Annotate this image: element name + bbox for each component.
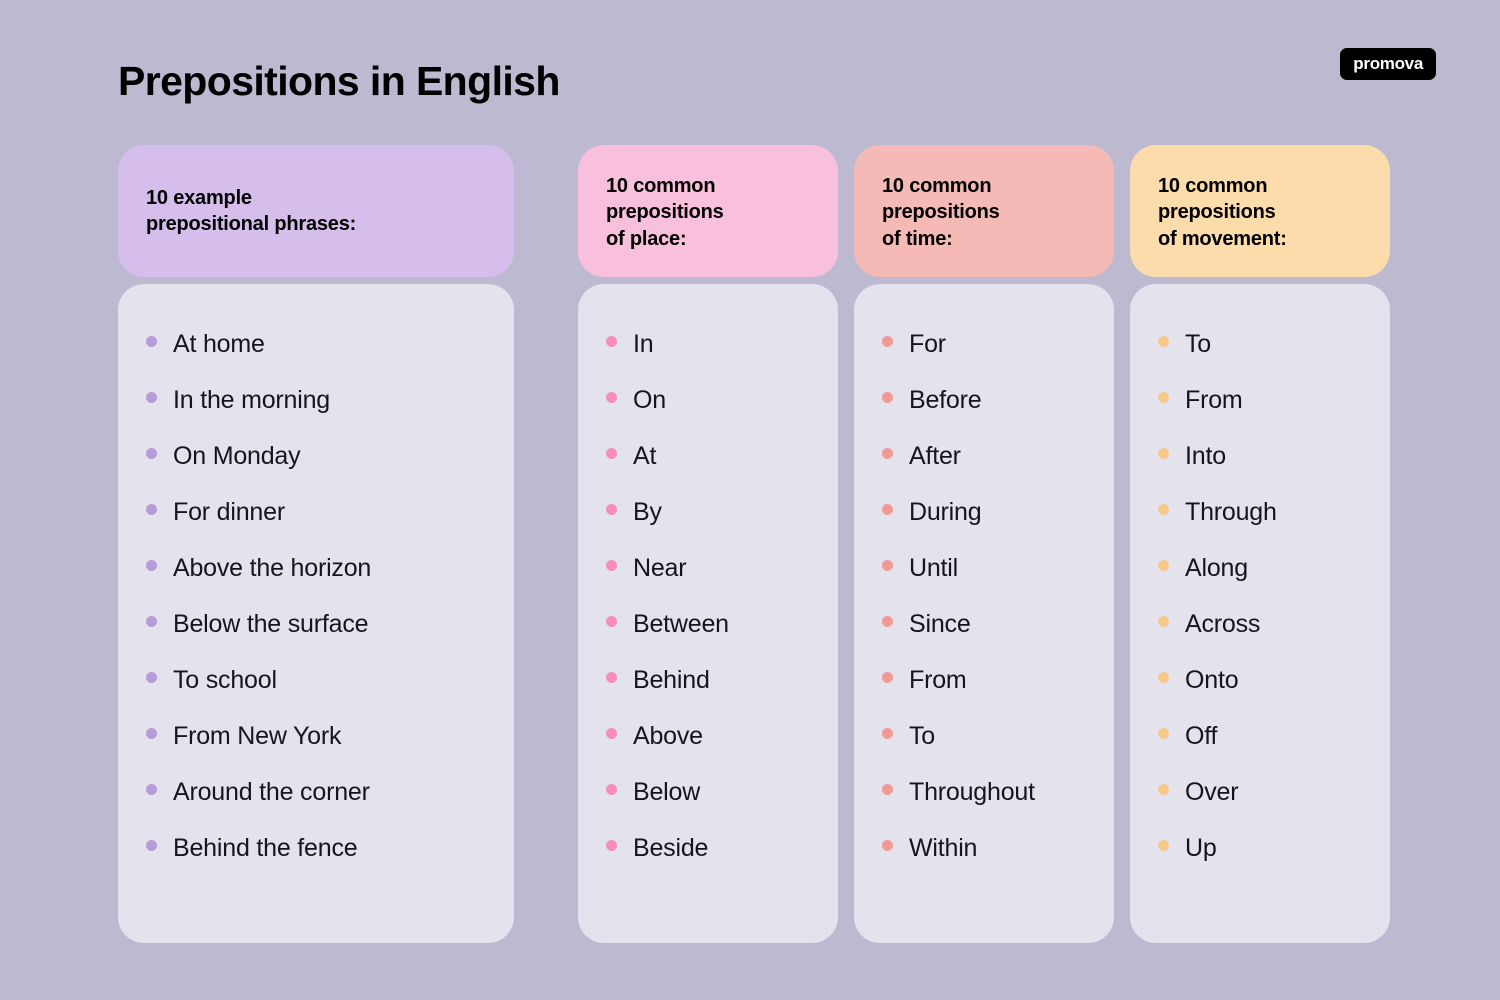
list-item: For dinner xyxy=(146,498,486,554)
bullet-icon xyxy=(882,336,893,347)
list-item-label: Into xyxy=(1185,442,1226,471)
list-item-label: Above xyxy=(633,722,703,751)
bullet-icon xyxy=(882,784,893,795)
list-item: Along xyxy=(1158,554,1362,610)
list-item-label: From xyxy=(1185,386,1243,415)
list-item-label: Onto xyxy=(1185,666,1238,695)
list-item-label: Behind the fence xyxy=(173,834,357,863)
list-item: Below the surface xyxy=(146,610,486,666)
bullet-icon xyxy=(882,560,893,571)
list-item: Before xyxy=(882,386,1086,442)
list-item-label: In xyxy=(633,330,653,359)
list-item: Over xyxy=(1158,778,1362,834)
bullet-icon xyxy=(146,336,157,347)
list-item-label: Throughout xyxy=(909,778,1035,807)
page-title: Prepositions in English xyxy=(118,58,560,105)
bullet-icon xyxy=(882,504,893,515)
column-header-phrases: 10 example prepositional phrases: xyxy=(118,145,514,277)
bullet-icon xyxy=(1158,392,1169,403)
column-body-movement: ToFromIntoThroughAlongAcrossOntoOffOverU… xyxy=(1130,284,1390,943)
promova-logo: promova xyxy=(1340,48,1436,80)
list-item: Above xyxy=(606,722,810,778)
list-item: At home xyxy=(146,330,486,386)
list-item: Around the corner xyxy=(146,778,486,834)
list-item: Between xyxy=(606,610,810,666)
preposition-list-movement: ToFromIntoThroughAlongAcrossOntoOffOverU… xyxy=(1158,330,1362,890)
list-item-label: On xyxy=(633,386,666,415)
bullet-icon xyxy=(882,448,893,459)
list-item-label: After xyxy=(909,442,961,471)
bullet-icon xyxy=(1158,560,1169,571)
list-item-label: Off xyxy=(1185,722,1217,751)
list-item: Within xyxy=(882,834,1086,890)
bullet-icon xyxy=(1158,616,1169,627)
list-item-label: Above the horizon xyxy=(173,554,371,583)
preposition-list-time: ForBeforeAfterDuringUntilSinceFromToThro… xyxy=(882,330,1086,890)
list-item-label: Beside xyxy=(633,834,708,863)
list-item-label: For dinner xyxy=(173,498,285,527)
list-item-label: From New York xyxy=(173,722,341,751)
bullet-icon xyxy=(882,616,893,627)
bullet-icon xyxy=(146,784,157,795)
list-item-label: To xyxy=(1185,330,1211,359)
column-body-time: ForBeforeAfterDuringUntilSinceFromToThro… xyxy=(854,284,1114,943)
list-item: During xyxy=(882,498,1086,554)
list-item: Across xyxy=(1158,610,1362,666)
bullet-icon xyxy=(606,728,617,739)
column-time: 10 common prepositions of time:ForBefore… xyxy=(854,145,1114,943)
list-item-label: Since xyxy=(909,610,971,639)
list-item: In xyxy=(606,330,810,386)
bullet-icon xyxy=(146,392,157,403)
list-item: To xyxy=(882,722,1086,778)
column-movement: 10 common prepositions of movement:ToFro… xyxy=(1130,145,1390,943)
list-item-label: Below xyxy=(633,778,700,807)
bullet-icon xyxy=(146,504,157,515)
list-item-label: Near xyxy=(633,554,686,583)
list-item: Behind xyxy=(606,666,810,722)
bullet-icon xyxy=(606,504,617,515)
column-header-movement: 10 common prepositions of movement: xyxy=(1130,145,1390,277)
list-item: After xyxy=(882,442,1086,498)
list-item-label: To school xyxy=(173,666,277,695)
list-item: On xyxy=(606,386,810,442)
list-item-label: At home xyxy=(173,330,265,359)
bullet-icon xyxy=(1158,504,1169,515)
bullet-icon xyxy=(606,672,617,683)
list-item-label: In the morning xyxy=(173,386,330,415)
bullet-icon xyxy=(1158,840,1169,851)
list-item-label: Between xyxy=(633,610,729,639)
preposition-list-place: InOnAtByNearBetweenBehindAboveBelowBesid… xyxy=(606,330,810,890)
column-place: 10 common prepositions of place:InOnAtBy… xyxy=(578,145,838,943)
list-item: From New York xyxy=(146,722,486,778)
column-body-phrases: At homeIn the morningOn MondayFor dinner… xyxy=(118,284,514,943)
list-item: From xyxy=(882,666,1086,722)
bullet-icon xyxy=(606,840,617,851)
column-header-time: 10 common prepositions of time: xyxy=(854,145,1114,277)
bullet-icon xyxy=(882,840,893,851)
bullet-icon xyxy=(882,672,893,683)
list-item: To school xyxy=(146,666,486,722)
bullet-icon xyxy=(606,392,617,403)
list-item-label: By xyxy=(633,498,662,527)
list-item-label: Below the surface xyxy=(173,610,368,639)
bullet-icon xyxy=(606,560,617,571)
bullet-icon xyxy=(882,392,893,403)
list-item: Until xyxy=(882,554,1086,610)
list-item-label: On Monday xyxy=(173,442,300,471)
bullet-icon xyxy=(606,336,617,347)
bullet-icon xyxy=(146,616,157,627)
list-item: By xyxy=(606,498,810,554)
column-body-place: InOnAtByNearBetweenBehindAboveBelowBesid… xyxy=(578,284,838,943)
bullet-icon xyxy=(146,672,157,683)
list-item-label: Behind xyxy=(633,666,710,695)
list-item: Near xyxy=(606,554,810,610)
column-phrases: 10 example prepositional phrases:At home… xyxy=(118,145,514,943)
list-item: Since xyxy=(882,610,1086,666)
infographic-page: Prepositions in English promova 10 examp… xyxy=(0,0,1500,1000)
list-item-label: To xyxy=(909,722,935,751)
list-item-label: At xyxy=(633,442,656,471)
list-item-label: During xyxy=(909,498,981,527)
bullet-icon xyxy=(1158,336,1169,347)
list-item-label: Through xyxy=(1185,498,1277,527)
list-item: Behind the fence xyxy=(146,834,486,890)
list-item: Above the horizon xyxy=(146,554,486,610)
list-item: At xyxy=(606,442,810,498)
list-item: Below xyxy=(606,778,810,834)
preposition-list-phrases: At homeIn the morningOn MondayFor dinner… xyxy=(146,330,486,890)
list-item: On Monday xyxy=(146,442,486,498)
bullet-icon xyxy=(1158,672,1169,683)
list-item: From xyxy=(1158,386,1362,442)
list-item-label: Before xyxy=(909,386,981,415)
list-item: For xyxy=(882,330,1086,386)
list-item-label: Over xyxy=(1185,778,1238,807)
list-item-label: From xyxy=(909,666,967,695)
bullet-icon xyxy=(1158,448,1169,459)
bullet-icon xyxy=(882,728,893,739)
bullet-icon xyxy=(146,840,157,851)
list-item-label: Within xyxy=(909,834,977,863)
list-item-label: Around the corner xyxy=(173,778,370,807)
list-item: Through xyxy=(1158,498,1362,554)
list-item: Up xyxy=(1158,834,1362,890)
bullet-icon xyxy=(606,616,617,627)
columns-container: 10 example prepositional phrases:At home… xyxy=(118,145,1390,945)
bullet-icon xyxy=(606,784,617,795)
bullet-icon xyxy=(1158,728,1169,739)
list-item-label: Until xyxy=(909,554,958,583)
bullet-icon xyxy=(146,728,157,739)
list-item: Beside xyxy=(606,834,810,890)
list-item: Onto xyxy=(1158,666,1362,722)
list-item-label: For xyxy=(909,330,946,359)
bullet-icon xyxy=(146,560,157,571)
list-item-label: Along xyxy=(1185,554,1248,583)
bullet-icon xyxy=(146,448,157,459)
list-item-label: Up xyxy=(1185,834,1217,863)
list-item: Off xyxy=(1158,722,1362,778)
list-item: Throughout xyxy=(882,778,1086,834)
column-header-place: 10 common prepositions of place: xyxy=(578,145,838,277)
list-item: Into xyxy=(1158,442,1362,498)
bullet-icon xyxy=(606,448,617,459)
list-item-label: Across xyxy=(1185,610,1260,639)
bullet-icon xyxy=(1158,784,1169,795)
list-item: To xyxy=(1158,330,1362,386)
list-item: In the morning xyxy=(146,386,486,442)
